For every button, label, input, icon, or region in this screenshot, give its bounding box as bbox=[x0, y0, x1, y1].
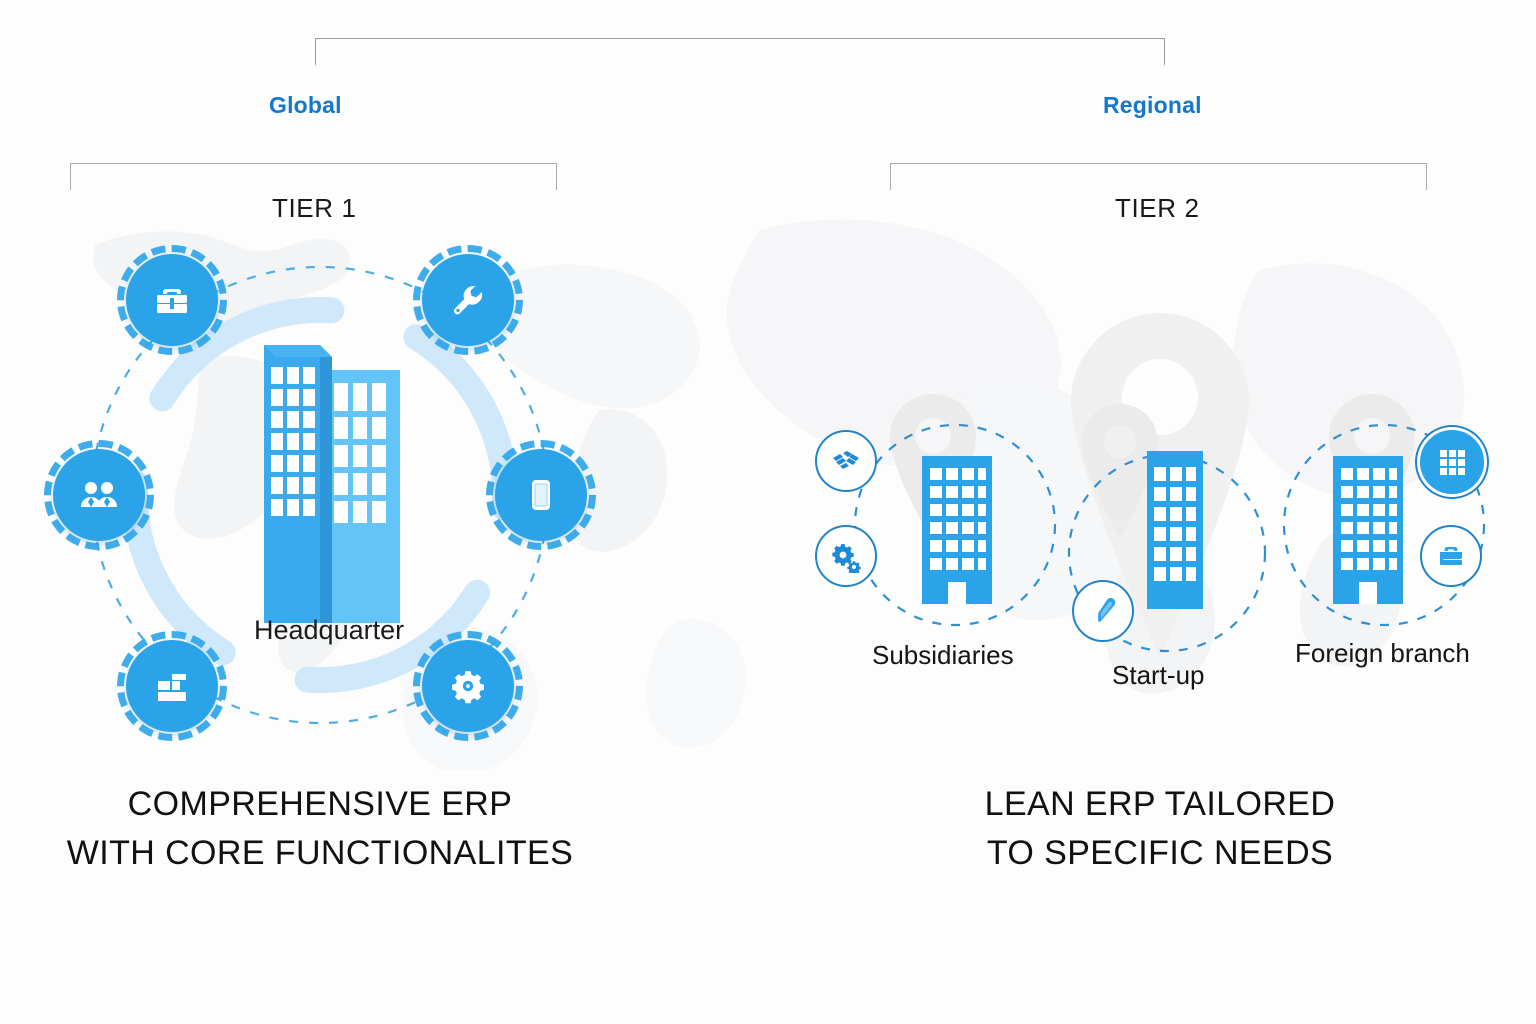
pen-icon[interactable] bbox=[1072, 580, 1134, 642]
people-glyph bbox=[75, 471, 123, 519]
mobile-device-icon[interactable] bbox=[495, 449, 587, 541]
headquarters-building-icon bbox=[252, 335, 412, 625]
tier1-bracket bbox=[70, 163, 557, 190]
tier1-headline-line2: WITH CORE FUNCTIONALITES bbox=[45, 829, 595, 878]
office-building-icon bbox=[912, 450, 1002, 610]
grid-glyph bbox=[1436, 446, 1468, 478]
tier2-headline-line2: TO SPECIFIC NEEDS bbox=[930, 829, 1390, 878]
group-label-regional: Regional bbox=[1103, 92, 1202, 119]
gears-icon[interactable] bbox=[815, 525, 877, 587]
gear-icon[interactable] bbox=[422, 640, 514, 732]
unit-subsidiaries: Subsidiaries bbox=[800, 380, 1080, 680]
tier2-headline: LEAN ERP TAILORED TO SPECIFIC NEEDS bbox=[930, 780, 1390, 879]
handshake-glyph bbox=[829, 444, 863, 478]
headquarter-label: Headquarter bbox=[254, 615, 404, 646]
wrench-icon[interactable] bbox=[422, 254, 514, 346]
unit-foreign-branch: Foreign branch bbox=[1255, 380, 1536, 680]
unit-label-subsidiaries: Subsidiaries bbox=[872, 640, 1014, 671]
tier1-headline-line1: COMPREHENSIVE ERP bbox=[45, 780, 595, 829]
office-building-icon bbox=[1323, 450, 1413, 610]
pen-glyph bbox=[1086, 594, 1120, 628]
wrench-glyph bbox=[445, 277, 491, 323]
tier1-cluster: Headquarter bbox=[40, 240, 600, 760]
top-bracket bbox=[315, 38, 1165, 65]
bar-chart-glyph bbox=[148, 662, 196, 710]
tier2-label: TIER 2 bbox=[1115, 193, 1200, 224]
handshake-icon[interactable] bbox=[815, 430, 877, 492]
grid-icon[interactable] bbox=[1420, 430, 1484, 494]
gear-glyph bbox=[445, 663, 491, 709]
bar-chart-icon[interactable] bbox=[126, 640, 218, 732]
briefcase-glyph bbox=[1435, 540, 1467, 572]
tier1-headline: COMPREHENSIVE ERP WITH CORE FUNCTIONALIT… bbox=[45, 780, 595, 879]
briefcase-icon[interactable] bbox=[1420, 525, 1482, 587]
unit-label-foreign-branch: Foreign branch bbox=[1295, 638, 1470, 669]
briefcase-glyph bbox=[148, 276, 196, 324]
group-label-global: Global bbox=[269, 92, 342, 119]
mobile-glyph bbox=[519, 473, 563, 517]
people-icon[interactable] bbox=[53, 449, 145, 541]
unit-label-startup: Start-up bbox=[1112, 660, 1205, 691]
tower-building-icon bbox=[1135, 445, 1215, 615]
tier2-bracket bbox=[890, 163, 1427, 190]
briefcase-icon[interactable] bbox=[126, 254, 218, 346]
gears-glyph bbox=[829, 539, 863, 573]
tier1-label: TIER 1 bbox=[272, 193, 357, 224]
infographic-canvas: Global Regional TIER 1 TIER 2 bbox=[0, 0, 1536, 1024]
tier2-headline-line1: LEAN ERP TAILORED bbox=[930, 780, 1390, 829]
